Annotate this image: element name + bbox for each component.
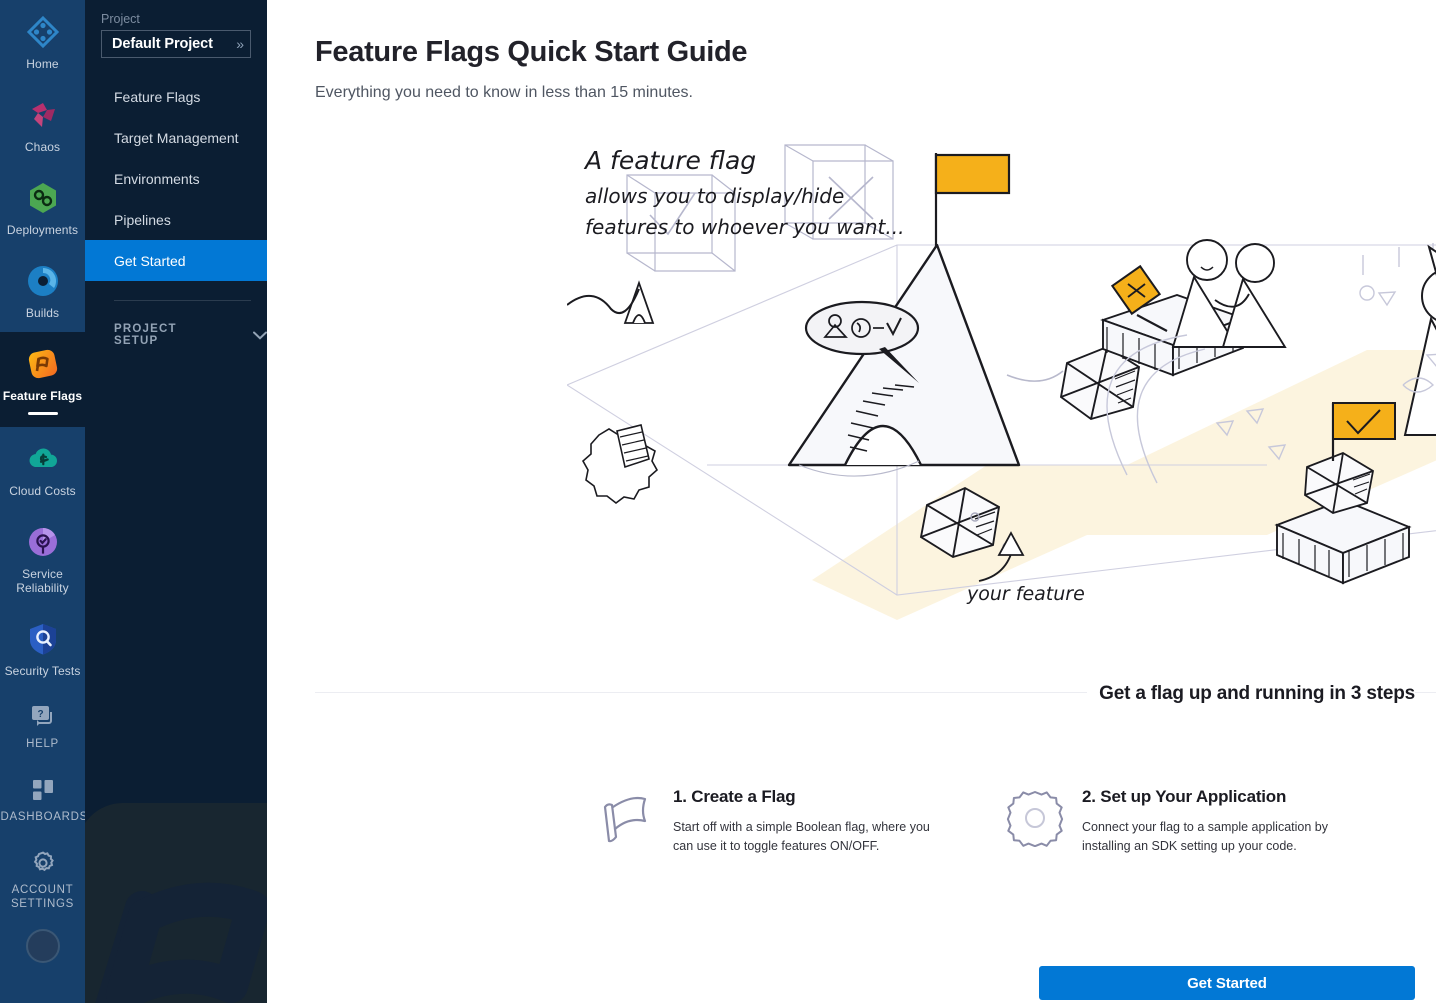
callout-arrow-right — [1429, 155, 1436, 283]
main-content: Feature Flags Quick Start Guide Everythi… — [267, 0, 1436, 1003]
hero-illustration: your feature En A feature flag allows yo… — [567, 135, 1436, 655]
svg-text:?: ? — [37, 709, 43, 720]
deployments-icon — [25, 180, 61, 216]
figures-pair — [1173, 240, 1285, 347]
project-label: Project — [85, 10, 267, 30]
rail-item-feature-flags[interactable]: Feature Flags — [0, 332, 85, 427]
rail-item-security-tests[interactable]: Security Tests — [0, 607, 85, 690]
project-nav: Project Default Project » Feature Flags … — [85, 0, 267, 1003]
sidebar-item-label: Environments — [114, 171, 200, 187]
project-name: Default Project — [112, 36, 213, 52]
rail-item-dashboards[interactable]: DASHBOARDS — [0, 763, 85, 836]
sidebar-item-feature-flags[interactable]: Feature Flags — [85, 76, 267, 117]
connector-squiggle — [1007, 371, 1063, 381]
rail-item-service-reliability[interactable]: Service Reliability — [0, 510, 85, 607]
app-root: Home Chaos — [0, 0, 1436, 1003]
home-diamond-icon — [25, 14, 61, 50]
cog-sketch — [583, 425, 657, 503]
step-body: 1. Create a Flag Start off with a simple… — [673, 787, 943, 856]
rail-item-label: ACCOUNT SETTINGS — [2, 883, 83, 911]
hero-annotation-line2: allows you to display/hide — [585, 184, 844, 208]
service-reliability-icon — [25, 524, 61, 560]
chevron-double-right-icon: » — [236, 37, 242, 51]
page-subtitle: Everything you need to know in less than… — [315, 84, 693, 102]
rail-item-label: HELP — [26, 737, 59, 751]
rail-item-help[interactable]: ? HELP — [0, 690, 85, 763]
rail-item-label: Security Tests — [5, 664, 81, 678]
step-description: Connect your flag to a sample applicatio… — [1082, 818, 1352, 856]
rail-item-cloud-costs[interactable]: Cloud Costs — [0, 427, 85, 510]
builds-icon — [25, 263, 61, 299]
page-title: Feature Flags Quick Start Guide — [315, 36, 747, 69]
project-setup-section[interactable]: PROJECT SETUP — [85, 323, 267, 347]
chevron-down-icon — [253, 329, 267, 342]
tent-flag — [936, 155, 1009, 193]
step-title: 2. Set up Your Application — [1082, 787, 1352, 807]
rail-item-label: Cloud Costs — [9, 484, 75, 498]
hero-annotation-line3: features to whoever you want... — [585, 215, 904, 239]
gear-outline-icon — [1006, 789, 1064, 847]
module-rail: Home Chaos — [0, 0, 85, 1003]
nav-divider — [114, 300, 251, 301]
sidebar-item-environments[interactable]: Environments — [85, 158, 267, 199]
rail-item-label: Home — [26, 57, 58, 71]
step-description: Start off with a simple Boolean flag, wh… — [673, 818, 943, 856]
rail-item-chaos[interactable]: Chaos — [0, 83, 85, 166]
project-setup-label: PROJECT SETUP — [114, 323, 225, 347]
avatar[interactable] — [26, 929, 60, 963]
steps-heading: Get a flag up and running in 3 steps — [1087, 683, 1415, 705]
feature-flags-icon — [25, 346, 61, 382]
sidebar-item-get-started[interactable]: Get Started — [85, 240, 267, 281]
rail-item-account-settings[interactable]: ACCOUNT SETTINGS — [0, 836, 85, 923]
rail-item-home[interactable]: Home — [0, 0, 85, 83]
rail-item-label: Deployments — [7, 223, 78, 237]
hero-label-your-feature: your feature — [966, 583, 1085, 605]
step-set-up-application[interactable]: 2. Set up Your Application Connect your … — [1006, 787, 1415, 856]
sidebar-item-label: Pipelines — [114, 212, 171, 228]
rail-item-builds[interactable]: Builds — [0, 249, 85, 332]
security-tests-icon — [25, 621, 61, 657]
sidebar-item-target-management[interactable]: Target Management — [85, 117, 267, 158]
flag-outline-icon — [597, 789, 655, 847]
help-icon: ? — [30, 704, 56, 730]
sidebar-item-pipelines[interactable]: Pipelines — [85, 199, 267, 240]
project-nav-list: Feature Flags Target Management Environm… — [85, 76, 267, 281]
sidebar-item-label: Target Management — [114, 130, 239, 146]
active-indicator — [28, 412, 58, 415]
step-title: 1. Create a Flag — [673, 787, 943, 807]
cloud-costs-icon — [25, 441, 61, 477]
chaos-icon — [25, 97, 61, 133]
hero-annotation-line1: A feature flag — [583, 146, 756, 175]
sidebar-item-label: Get Started — [114, 253, 186, 269]
dashboards-icon — [30, 777, 56, 803]
steps-list: 1. Create a Flag Start off with a simple… — [597, 787, 1415, 856]
rail-item-label: Service Reliability — [2, 567, 83, 595]
sidebar-item-label: Feature Flags — [114, 89, 200, 105]
project-nav-content: Project Default Project » Feature Flags … — [85, 0, 267, 347]
rail-item-label: DASHBOARDS — [1, 810, 85, 824]
step-create-a-flag[interactable]: 1. Create a Flag Start off with a simple… — [597, 787, 1006, 856]
get-started-button[interactable]: Get Started — [1039, 966, 1415, 1000]
squiggle-left — [567, 289, 639, 313]
rail-item-label: Builds — [26, 306, 59, 320]
rail-item-label: Chaos — [25, 140, 60, 154]
step-body: 2. Set up Your Application Connect your … — [1082, 787, 1352, 856]
flag-watermark-icon — [85, 773, 267, 1003]
project-selector[interactable]: Default Project » — [101, 30, 251, 58]
rail-item-label: Feature Flags — [3, 389, 82, 403]
gear-icon — [30, 850, 56, 876]
rail-item-deployments[interactable]: Deployments — [0, 166, 85, 249]
